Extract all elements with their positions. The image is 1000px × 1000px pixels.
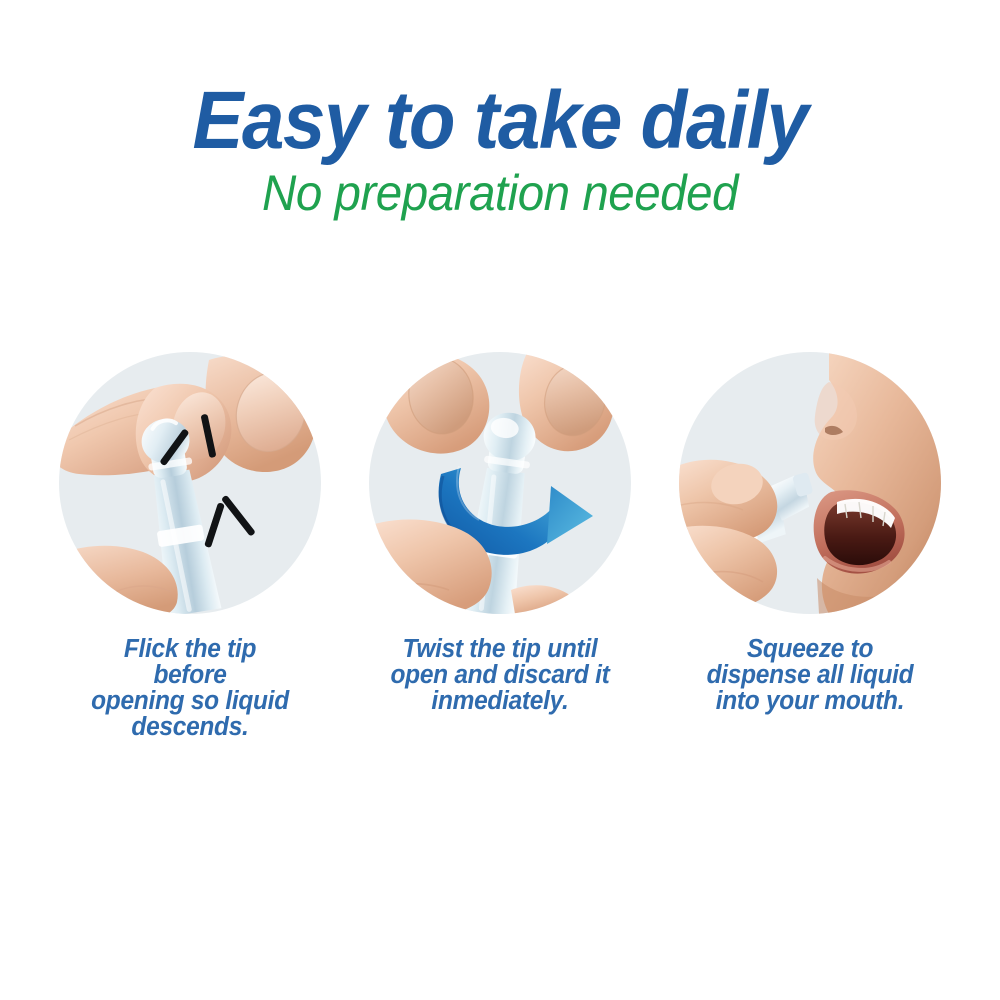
step-flick-caption: Flick the tip before opening so liquid d… — [46, 636, 334, 740]
caption-line: descends. — [46, 714, 334, 740]
caption-line: Flick the tip — [46, 636, 334, 662]
caption-line: into your mouth. — [666, 688, 954, 714]
page-headline: Easy to take daily — [35, 78, 965, 164]
supporting-fingers — [59, 546, 178, 614]
index-finger — [382, 352, 489, 454]
squeeze-illustration — [679, 352, 941, 614]
caption-line: dispense all liquid — [666, 662, 954, 688]
caption-line: opening so liquid — [46, 688, 334, 714]
flick-illustration — [59, 352, 321, 614]
step-twist-caption: Twist the tip until open and discard it … — [356, 636, 644, 714]
steps-row: Flick the tip before opening so liquid d… — [0, 352, 1000, 802]
caption-line: Squeeze to — [666, 636, 954, 662]
step-flick: Flick the tip before opening so liquid d… — [35, 352, 345, 740]
caption-line: inmediately. — [356, 688, 644, 714]
caption-line: open and discard it — [356, 662, 644, 688]
face — [813, 352, 941, 614]
step-twist-photo — [369, 352, 631, 614]
eyelash-icon — [893, 352, 929, 364]
twist-illustration — [369, 352, 631, 614]
caption-line: before — [46, 662, 334, 688]
step-squeeze-photo — [679, 352, 941, 614]
step-flick-photo — [59, 352, 321, 614]
instruction-graphic: Easy to take daily No preparation needed — [0, 0, 1000, 1000]
caption-line: Twist the tip until — [356, 636, 644, 662]
step-squeeze: Squeeze to dispense all liquid into your… — [655, 352, 965, 714]
step-squeeze-caption: Squeeze to dispense all liquid into your… — [666, 636, 954, 714]
step-twist: Twist the tip until open and discard it … — [345, 352, 655, 714]
page-subheadline: No preparation needed — [25, 166, 975, 220]
